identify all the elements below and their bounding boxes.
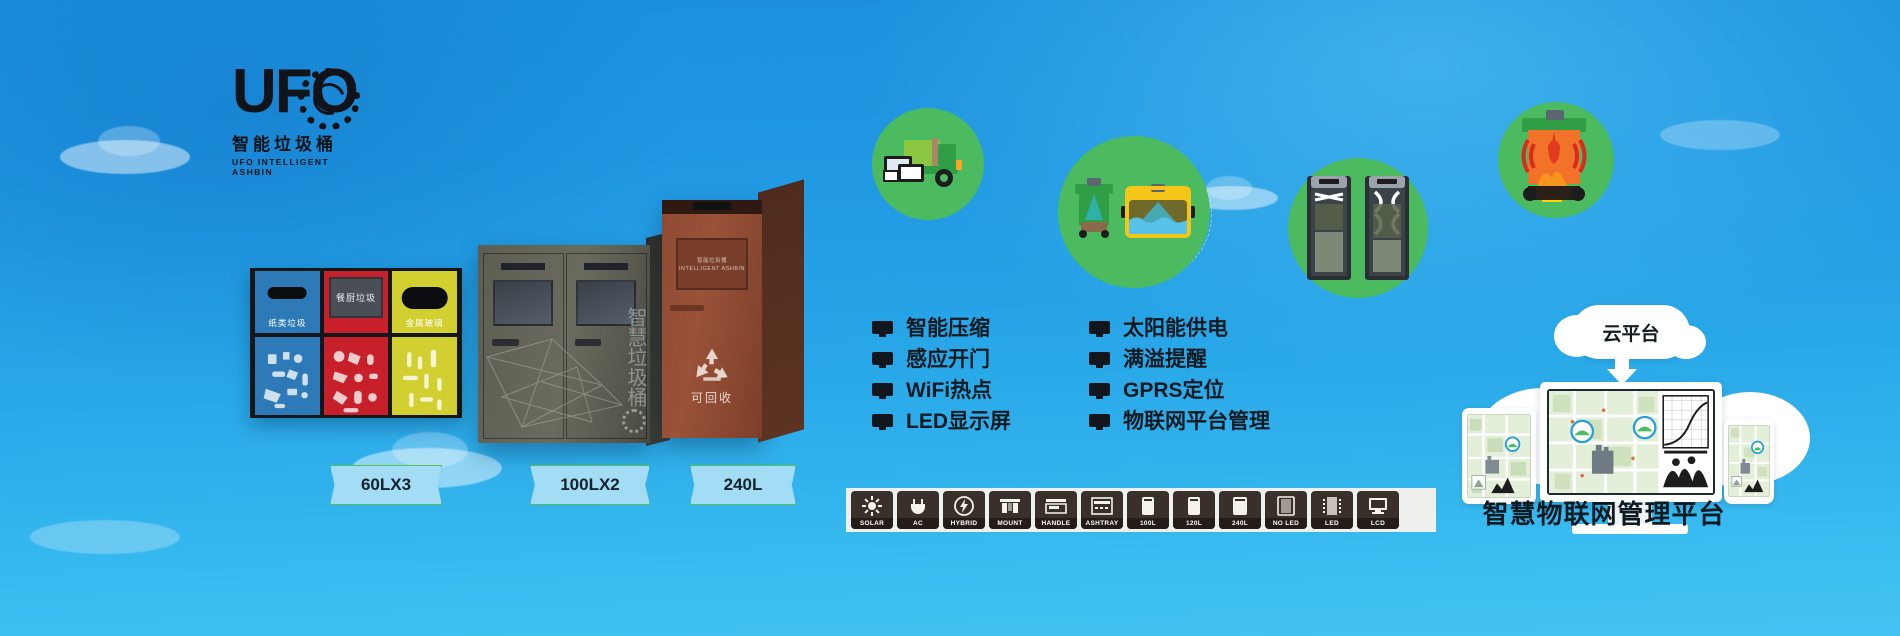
spec-label: ASHTRAY	[1081, 518, 1123, 529]
mount-icon	[989, 494, 1031, 518]
monitor-icon	[1089, 321, 1110, 337]
spec-label: LED	[1311, 518, 1353, 529]
capacity-banner-60lx3: 60LX3	[330, 465, 442, 505]
cloud-decoration	[392, 432, 468, 468]
compartment-body	[255, 337, 320, 415]
feature-item: 物联网平台管理	[1089, 411, 1270, 432]
compartment-label: 纸类垃圾	[255, 317, 320, 329]
dashboard-screen	[1547, 389, 1715, 495]
recycle-label: 可回收	[662, 389, 762, 406]
feature-item: 智能压缩	[872, 318, 1011, 339]
spec-item-ashtray[interactable]: ASHTRAY	[1081, 491, 1123, 529]
feature-circle-fire-alarm	[1498, 102, 1614, 218]
feature-label: 满溢提醒	[1123, 349, 1207, 370]
capacity-banner-100lx2: 100LX2	[530, 465, 650, 505]
bin-top-bar	[662, 200, 762, 214]
feature-circle-fleet-management	[872, 108, 984, 220]
spec-label: MOUNT	[989, 518, 1031, 529]
feature-label: 物联网平台管理	[1123, 411, 1270, 432]
compartment-top: 金属玻璃	[392, 271, 457, 333]
spec-label: 120L	[1173, 518, 1215, 529]
capacity-banner-240l: 240L	[690, 465, 796, 505]
bin-smart-double: 智慧垃圾桶	[478, 245, 650, 443]
recycling-symbol-icon	[691, 346, 733, 386]
bin-display-screen: 餐厨垃圾	[329, 277, 383, 318]
bin-slot-icon	[401, 287, 448, 309]
garbage-truck-icon	[882, 130, 974, 198]
map-graphic	[1468, 415, 1530, 497]
bin-body: 智慧垃圾桶	[478, 245, 650, 443]
spec-item-100l[interactable]: 100L	[1127, 491, 1169, 529]
spec-label: AC	[897, 518, 939, 529]
feature-circle-compaction	[1288, 158, 1428, 298]
brand-logo: UFO 智能垃圾桶 UFO INTELLIGENT ASHBIN	[232, 62, 362, 167]
ashtray-icon	[1081, 494, 1123, 518]
feature-column-left: 智能压缩 感应开门 WiFi热点 LED显示屏	[872, 318, 1011, 432]
spec-icon-strip: SOLAR AC HYBRID MOUNT	[846, 488, 1436, 532]
device-desktop-monitor	[1540, 382, 1722, 502]
spec-item-hybrid[interactable]: HYBRID	[943, 491, 985, 529]
led-display-icon	[501, 263, 545, 270]
feature-item: 太阳能供电	[1089, 318, 1270, 339]
feature-circle-fill-level-sensing	[1058, 136, 1210, 288]
spec-label: HANDLE	[1035, 518, 1077, 529]
bin-side-panel	[758, 179, 804, 442]
window-label-en: INTELLIGENT ASHBIN	[679, 266, 745, 272]
bolt-icon	[943, 494, 985, 518]
led-display-icon	[584, 263, 628, 270]
bin-240l-icon	[1219, 494, 1261, 518]
bin-window	[493, 280, 553, 326]
monitor-icon	[872, 383, 893, 399]
spec-item-no-led[interactable]: NO LED	[1265, 491, 1307, 529]
lcd-display-icon	[693, 202, 731, 210]
spec-item-mount[interactable]: MOUNT	[989, 491, 1031, 529]
logo-name-en: UFO INTELLIGENT ASHBIN	[232, 157, 362, 177]
cloud-decoration	[30, 520, 180, 554]
compartment-body	[324, 337, 389, 415]
bin-slot-icon	[268, 287, 307, 299]
spec-label: 100L	[1127, 518, 1169, 529]
bin-recycle-single: 智能垃圾桶 INTELLIGENT ASHBIN 可回收	[662, 200, 762, 438]
compartment-top: 餐厨垃圾	[324, 271, 389, 333]
device-smartphone	[1724, 418, 1774, 504]
monitor-icon	[872, 321, 893, 337]
spec-label: LCD	[1357, 518, 1399, 529]
compartment-top: 纸类垃圾	[255, 271, 320, 333]
spec-label: SOLAR	[851, 518, 893, 529]
compartment-label: 金属玻璃	[392, 317, 457, 329]
handle-icon	[1035, 494, 1077, 518]
spec-item-lcd[interactable]: LCD	[1357, 491, 1399, 529]
feature-label: 太阳能供电	[1123, 318, 1228, 339]
bin-window: 智能垃圾桶 INTELLIGENT ASHBIN	[676, 238, 748, 290]
feature-item: 满溢提醒	[1089, 349, 1270, 370]
feature-item: GPRS定位	[1089, 380, 1270, 401]
sun-icon	[851, 494, 893, 518]
spec-item-led[interactable]: LED	[1311, 491, 1353, 529]
cloud-decoration	[1660, 120, 1780, 150]
bin-side-text: 智慧垃圾桶	[620, 307, 646, 407]
spec-item-ac[interactable]: AC	[897, 491, 939, 529]
fire-alarm-icon	[1508, 110, 1604, 210]
feature-label: 感应开门	[906, 349, 990, 370]
cloud-decoration	[1206, 176, 1252, 200]
lcd-icon	[1357, 494, 1399, 518]
feature-label: GPRS定位	[1123, 380, 1225, 401]
bin-handle-icon	[670, 305, 704, 311]
bin-body: 智能垃圾桶 INTELLIGENT ASHBIN 可回收	[662, 200, 762, 438]
compartment-body	[392, 337, 457, 415]
spec-item-240l[interactable]: 240L	[1219, 491, 1261, 529]
feature-item: 感应开门	[872, 349, 1011, 370]
spec-item-120l[interactable]: 120L	[1173, 491, 1215, 529]
bin-compartment-metal-glass: 金属玻璃	[392, 271, 457, 415]
compactor-icon	[1303, 170, 1413, 286]
feature-item: LED显示屏	[872, 411, 1011, 432]
monitor-icon	[872, 414, 893, 430]
map-thumbnail	[1728, 425, 1770, 497]
bin-compartment-kitchen: 餐厨垃圾	[324, 271, 389, 415]
window-label-cn: 智能垃圾桶	[697, 256, 727, 264]
map-thumbnail	[1467, 414, 1531, 498]
cloud-platform-label: 云平台	[1602, 319, 1659, 346]
spec-label: 240L	[1219, 518, 1261, 529]
cloud-platform-badge: 云平台	[1572, 305, 1690, 359]
plug-icon	[897, 494, 939, 518]
spec-item-solar[interactable]: SOLAR	[851, 491, 893, 529]
bin-120l-icon	[1173, 494, 1215, 518]
dashboard-graphic	[1549, 391, 1713, 493]
ultrasonic-sensor-icon	[1069, 172, 1199, 252]
platform-caption: 智慧物联网管理平台	[1444, 494, 1764, 531]
kitchen-waste-art	[324, 337, 389, 415]
bin-compartment-paper: 纸类垃圾	[255, 271, 320, 415]
spec-item-handle[interactable]: HANDLE	[1035, 491, 1077, 529]
led-icon	[1311, 494, 1353, 518]
monitor-icon	[1089, 383, 1110, 399]
cloud-decoration	[98, 126, 160, 156]
map-graphic	[1729, 426, 1769, 496]
metal-glass-art	[392, 337, 457, 415]
feature-label: WiFi热点	[906, 380, 992, 401]
monitor-icon	[1089, 352, 1110, 368]
feature-list: 智能压缩 感应开门 WiFi热点 LED显示屏 太阳能供电 满溢提醒	[872, 318, 1270, 432]
polygon-graphic	[482, 327, 632, 437]
logo-mark: UFO	[232, 62, 362, 134]
banner-root: UFO 智能垃圾桶 UFO INTELLIGENT ASHBIN 纸类垃圾	[0, 0, 1900, 636]
monitor-icon	[1089, 414, 1110, 430]
feature-label: 智能压缩	[906, 318, 990, 339]
no-led-icon	[1265, 494, 1307, 518]
feature-item: WiFi热点	[872, 380, 1011, 401]
spec-label: NO LED	[1265, 518, 1307, 529]
logo-ring-icon	[622, 409, 646, 433]
bin-100l-icon	[1127, 494, 1169, 518]
screen-label: 餐厨垃圾	[336, 291, 376, 304]
bin-three-compartment: 纸类垃圾 餐厨垃圾	[250, 268, 462, 418]
spec-label: HYBRID	[943, 518, 985, 529]
feature-column-right: 太阳能供电 满溢提醒 GPRS定位 物联网平台管理	[1089, 318, 1270, 432]
feature-label: LED显示屏	[906, 411, 1011, 432]
recyclable-items-art	[255, 337, 320, 415]
device-tablet	[1462, 408, 1536, 504]
monitor-icon	[872, 352, 893, 368]
logo-ring-icon	[298, 68, 360, 130]
